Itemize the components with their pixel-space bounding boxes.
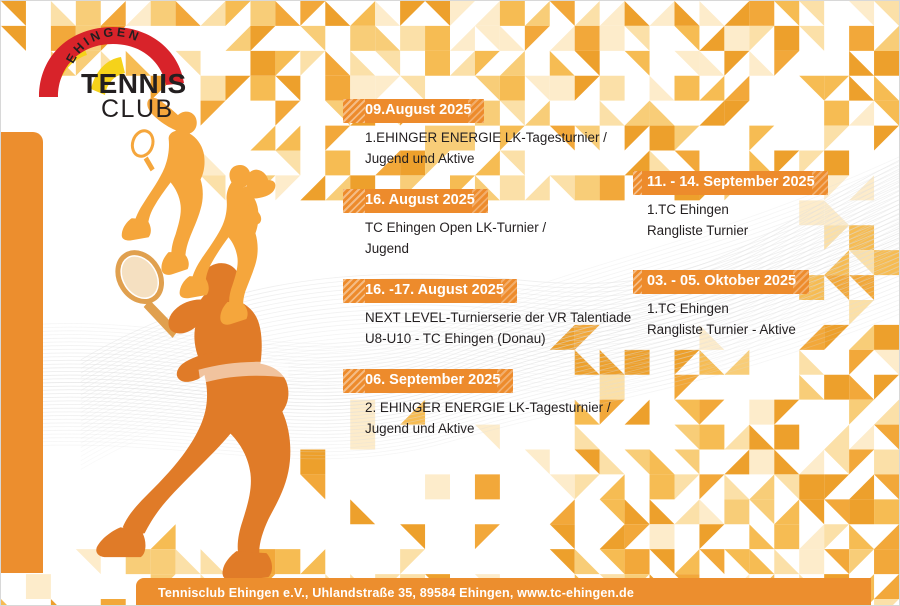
event-date-badge: 11. - 14. September 2025 (633, 171, 828, 195)
poster: LK-TURNIERE 2025 EHINGEN TENNIS CLUB 09.… (0, 0, 900, 606)
sidebar-bar: LK-TURNIERE 2025 (1, 132, 43, 573)
footer-bar: Tennisclub Ehingen e.V., Uhlandstraße 35… (136, 578, 871, 606)
event-description-line: 1.TC Ehingen (633, 299, 883, 320)
event-description-line: Rangliste Turnier (633, 221, 883, 242)
event-item: 16. August 2025 TC Ehingen Open LK-Turni… (343, 189, 613, 259)
event-date-badge: 16. -17. August 2025 (343, 279, 517, 303)
event-column-left: 09.August 2025 1.EHINGER ENERGIE LK-Tage… (343, 99, 613, 439)
event-description-line: Jugend und Aktive (343, 419, 613, 440)
event-description-line: 1.TC Ehingen (633, 200, 883, 221)
footer-contact-text: Tennisclub Ehingen e.V., Uhlandstraße 35… (136, 586, 634, 600)
event-column-right: 11. - 14. September 2025 1.TC Ehingen Ra… (633, 171, 883, 340)
event-description-line: U8-U10 - TC Ehingen (Donau) (343, 329, 613, 350)
event-item: 06. September 2025 2. EHINGER ENERGIE LK… (343, 369, 613, 439)
event-date-badge: 09.August 2025 (343, 99, 484, 123)
event-item: 03. - 05. Oktober 2025 1.TC Ehingen Rang… (633, 270, 883, 340)
event-item: 16. -17. August 2025 NEXT LEVEL-Turniers… (343, 279, 613, 349)
event-description-line: Jugend (343, 239, 613, 260)
event-description-line: NEXT LEVEL-Turnierserie der VR Talentiad… (343, 308, 613, 329)
event-date-badge: 03. - 05. Oktober 2025 (633, 270, 809, 294)
event-description-line: Jugend und Aktive (343, 149, 613, 170)
event-description-line: TC Ehingen Open LK-Turnier / (343, 218, 613, 239)
event-description-line: 2. EHINGER ENERGIE LK-Tagesturnier / (343, 398, 613, 419)
event-description-line: Rangliste Turnier - Aktive (633, 320, 883, 341)
logo-name-club: CLUB (101, 95, 174, 121)
event-item: 11. - 14. September 2025 1.TC Ehingen Ra… (633, 171, 883, 241)
tennis-club-logo: EHINGEN TENNIS CLUB (29, 9, 194, 121)
poster-side-title: LK-TURNIERE 2025 (1, 525, 43, 606)
event-date-badge: 16. August 2025 (343, 189, 488, 213)
event-item: 09.August 2025 1.EHINGER ENERGIE LK-Tage… (343, 99, 613, 169)
event-description-line: 1.EHINGER ENERGIE LK-Tagesturnier / (343, 128, 613, 149)
event-date-badge: 06. September 2025 (343, 369, 513, 393)
